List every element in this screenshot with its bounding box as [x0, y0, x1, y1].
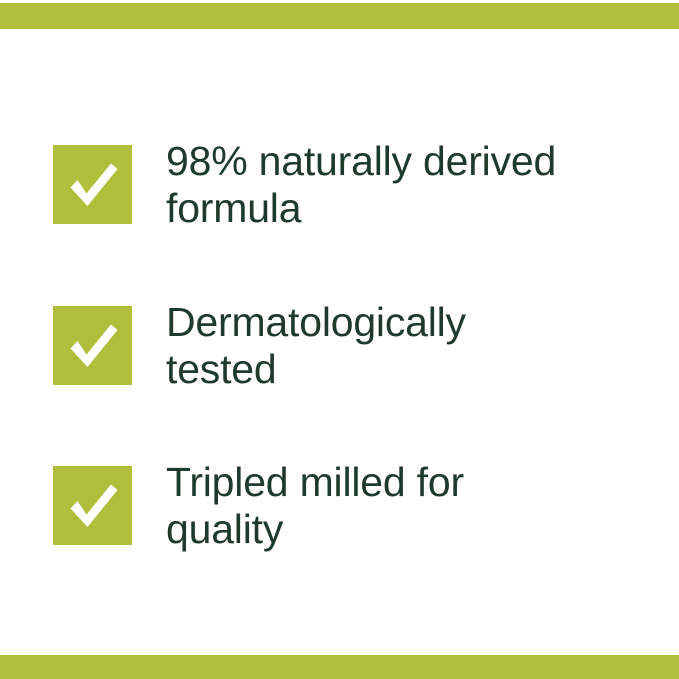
check-icon-badge: [53, 145, 132, 224]
bottom-green-rule: [0, 655, 679, 679]
check-icon: [53, 145, 132, 224]
product-benefits-panel: 98% naturally derived formula Dermatolog…: [0, 0, 679, 679]
check-icon: [53, 466, 132, 545]
list-item: Tripled milled for quality: [53, 466, 464, 553]
check-icon-badge: [53, 306, 132, 385]
list-item: Dermatologically tested: [53, 306, 466, 393]
benefit-label: Tripled milled for quality: [166, 459, 464, 553]
check-icon-badge: [53, 466, 132, 545]
top-green-rule: [0, 3, 679, 29]
benefit-label: 98% naturally derived formula: [166, 138, 556, 232]
benefit-label: Dermatologically tested: [166, 299, 466, 393]
check-icon: [53, 306, 132, 385]
list-item: 98% naturally derived formula: [53, 145, 556, 232]
